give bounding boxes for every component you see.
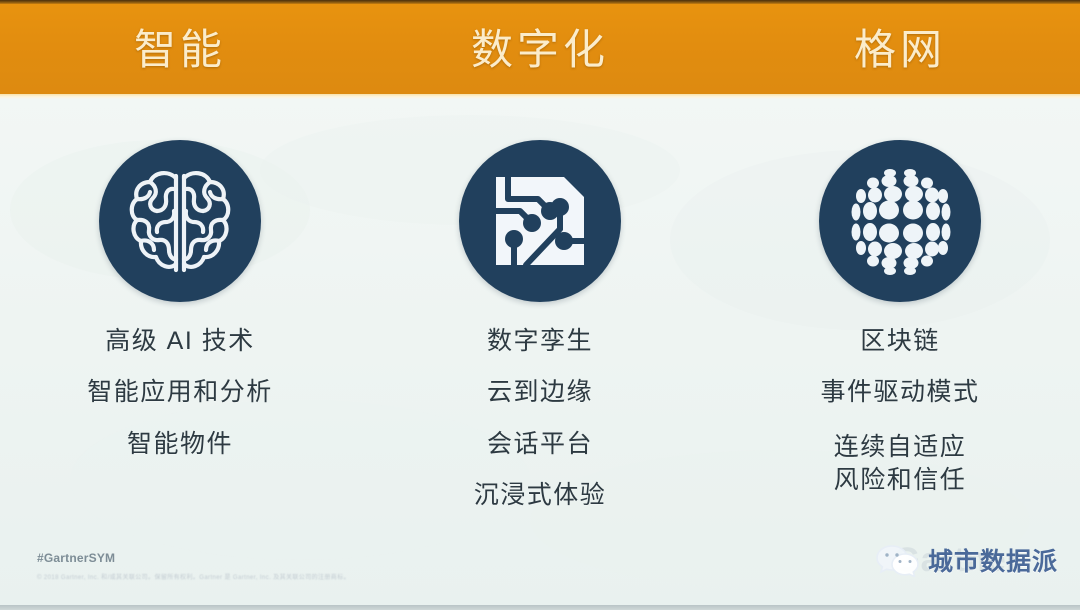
brain-icon: [126, 162, 234, 280]
bullet-item: 沉浸式体验: [474, 482, 607, 508]
header-column-intelligent: 智能: [0, 3, 360, 96]
bullet-item: 高级 AI 技术: [105, 328, 255, 354]
header-column-digital: 数字化: [360, 3, 720, 96]
bullet-item: 区块链: [860, 328, 940, 354]
mesh-globe-icon: [841, 162, 959, 280]
bullet-item: 智能应用和分析: [87, 379, 273, 405]
header-column-mesh: 格网: [720, 3, 1080, 96]
header-title-1: 智能: [134, 29, 226, 71]
bullet-item: 智能物件: [127, 431, 233, 457]
bullet-item: 事件驱动模式: [820, 379, 979, 405]
footer-hashtag: #GartnerSYM: [37, 551, 115, 565]
header-title-3: 格网: [854, 29, 946, 71]
column-digital: 数字孪生 云到边缘 会话平台 沉浸式体验: [360, 99, 720, 539]
bullet-item: 会话平台: [487, 431, 593, 457]
bullet-item: 数字孪生: [487, 328, 593, 354]
wechat-icon: [875, 543, 919, 577]
header-titles: 智能 数字化 格网: [0, 3, 1080, 96]
wechat-watermark: 城市数据派: [875, 538, 1058, 582]
bullet-list-1: 高级 AI 技术 智能应用和分析 智能物件: [0, 328, 360, 482]
icon-circle-3: [819, 140, 981, 302]
bottom-edge-strip: [0, 605, 1080, 610]
circuit-chip-icon: [490, 171, 590, 271]
bullet-item: 连续自适应 风险和信任: [834, 431, 967, 497]
icon-circle-2: [459, 140, 621, 302]
wechat-watermark-label: 城市数据派: [928, 542, 1058, 578]
footer-legal-text: © 2018 Gartner, Inc. 和/或其关联公司。保留所有权利。Gar…: [37, 572, 677, 581]
header-title-2: 数字化: [471, 29, 609, 71]
column-mesh: 区块链 事件驱动模式 连续自适应 风险和信任: [720, 99, 1080, 539]
icon-circle-1: [99, 140, 261, 302]
slide-canvas: 智能 数字化 格网: [0, 0, 1080, 610]
content-columns: 高级 AI 技术 智能应用和分析 智能物件: [0, 99, 1080, 539]
bullet-item: 云到边缘: [487, 379, 593, 405]
bullet-list-3: 区块链 事件驱动模式 连续自适应 风险和信任: [720, 328, 1080, 507]
column-intelligent: 高级 AI 技术 智能应用和分析 智能物件: [0, 99, 360, 539]
top-edge-strip: [0, 0, 1080, 4]
bullet-list-2: 数字孪生 云到边缘 会话平台 沉浸式体验: [360, 328, 720, 533]
